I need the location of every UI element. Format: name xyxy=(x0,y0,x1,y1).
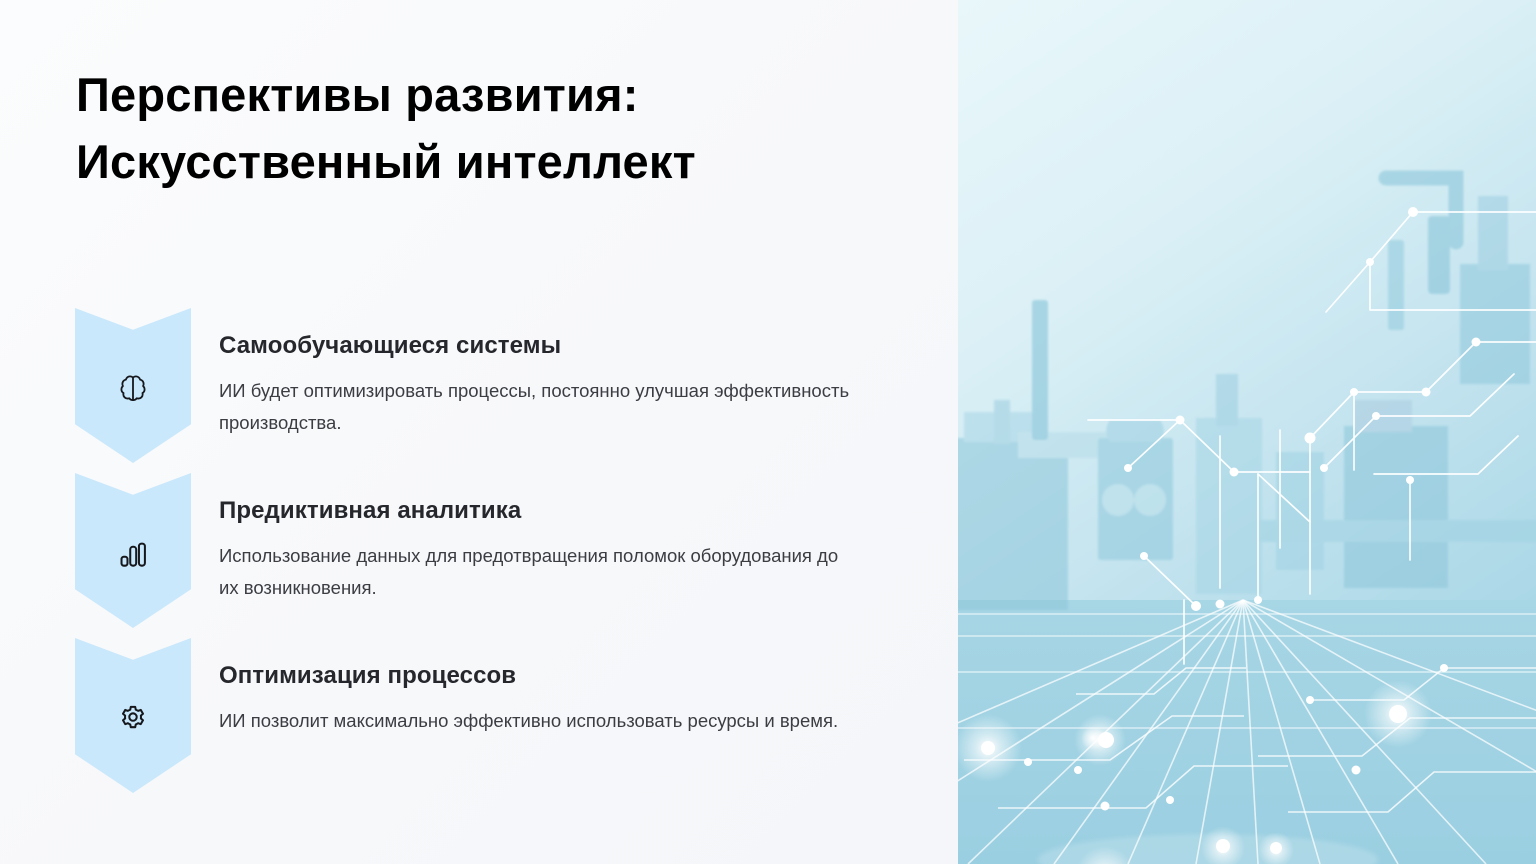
brain-icon xyxy=(116,372,150,406)
feature-text-block: Предиктивная аналитика Использование дан… xyxy=(219,497,879,603)
page-title: Перспективы развития: Искусственный инте… xyxy=(76,62,896,195)
gear-icon xyxy=(116,702,150,736)
list-item: Оптимизация процессов ИИ позволит максим… xyxy=(0,638,958,803)
feature-text-block: Оптимизация процессов ИИ позволит максим… xyxy=(219,662,879,737)
circuit-factory-illustration xyxy=(958,0,1536,864)
feature-title: Предиктивная аналитика xyxy=(219,497,879,526)
slide: Перспективы развития: Искусственный инте… xyxy=(0,0,1536,864)
feature-title: Оптимизация процессов xyxy=(219,662,879,691)
bar-chart-icon xyxy=(116,537,150,571)
feature-chevron-badge xyxy=(75,473,191,628)
illustration-panel xyxy=(958,0,1536,864)
list-item: Самообучающиеся системы ИИ будет оптимиз… xyxy=(0,308,958,473)
feature-description: Использование данных для предотвращения … xyxy=(219,540,859,604)
left-content-panel: Перспективы развития: Искусственный инте… xyxy=(0,0,958,864)
feature-chevron-badge xyxy=(75,638,191,793)
feature-description: ИИ позволит максимально эффективно испол… xyxy=(219,705,859,737)
feature-description: ИИ будет оптимизировать процессы, постоя… xyxy=(219,375,859,439)
feature-list: Самообучающиеся системы ИИ будет оптимиз… xyxy=(0,308,958,803)
feature-text-block: Самообучающиеся системы ИИ будет оптимиз… xyxy=(219,332,879,438)
list-item: Предиктивная аналитика Использование дан… xyxy=(0,473,958,638)
feature-title: Самообучающиеся системы xyxy=(219,332,879,361)
feature-chevron-badge xyxy=(75,308,191,463)
